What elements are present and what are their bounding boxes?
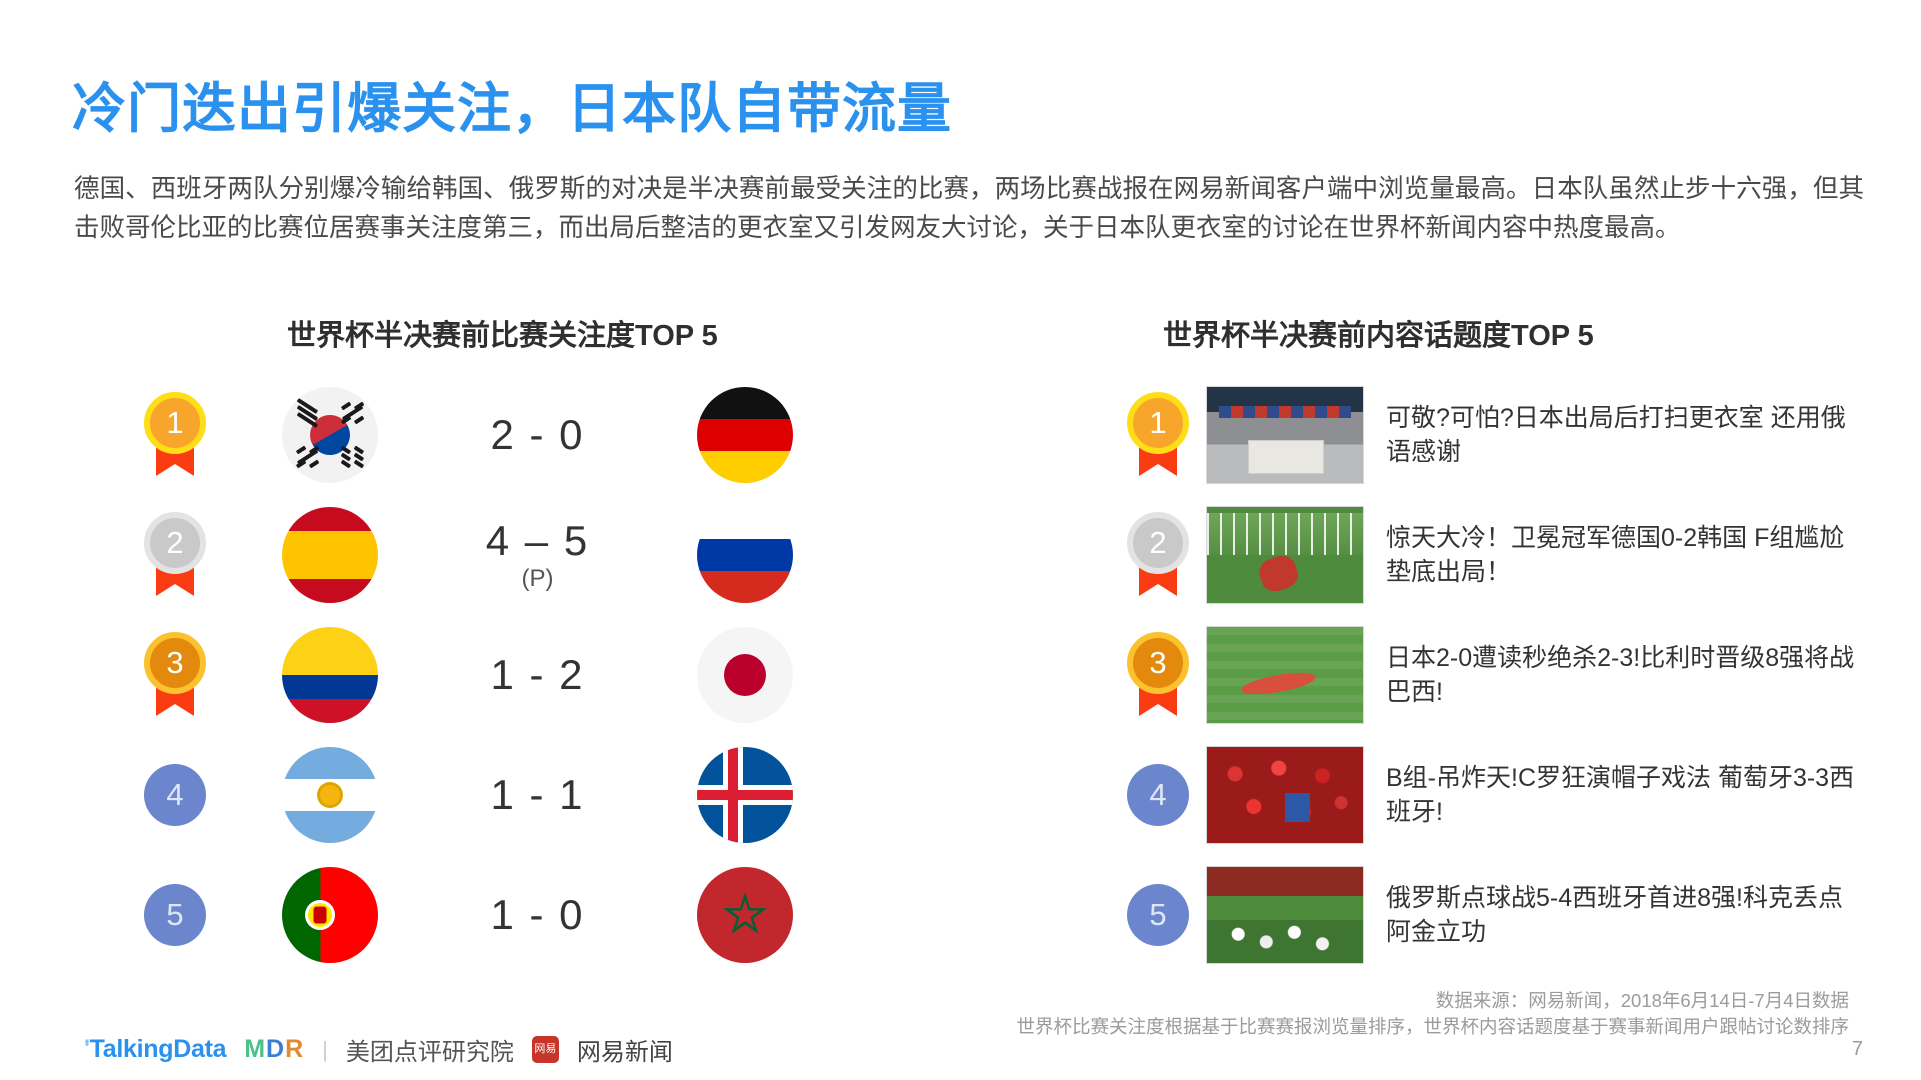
intro-paragraph: 德国、西班牙两队分别爆冷输给韩国、俄罗斯的对决是半决赛前最受关注的比赛，两场比赛… xyxy=(74,170,1864,248)
home-flag-cell xyxy=(230,627,430,723)
match-attention-list: 1 xyxy=(120,375,880,975)
match-row[interactable]: 5 1 - 0 xyxy=(120,855,880,975)
score-cell: 1 - 0 xyxy=(430,891,645,939)
news-row[interactable]: 5 俄罗斯点球战5-4西班牙首进8强!科克丢点阿金立功 xyxy=(1110,855,1870,975)
rank-cell: 2 xyxy=(1110,512,1206,598)
slide-page: 冷门迭出引爆关注，日本队自带流量 德国、西班牙两队分别爆冷输给韩国、俄罗斯的对决… xyxy=(0,0,1921,1080)
away-flag-cell xyxy=(645,387,845,483)
logo-divider: | xyxy=(322,1037,328,1063)
news-thumbnail[interactable] xyxy=(1206,506,1364,604)
score-cell: 2 - 0 xyxy=(430,411,645,459)
iceland-flag-icon xyxy=(697,747,793,843)
germany-flag-icon xyxy=(697,387,793,483)
rank-badge: 4 xyxy=(144,764,206,826)
rank-cell: 3 xyxy=(120,632,230,718)
rank-cell: 1 xyxy=(1110,392,1206,478)
home-flag-cell xyxy=(230,867,430,963)
medal-bronze-icon: 3 xyxy=(144,632,206,718)
score-value: 1 - 0 xyxy=(430,891,645,939)
left-section-heading: 世界杯半决赛前比赛关注度TOP 5 xyxy=(287,312,718,354)
netease-mark-icon: 网易 xyxy=(532,1036,559,1063)
rank-number: 2 xyxy=(1127,512,1189,574)
news-headline[interactable]: 俄罗斯点球战5-4西班牙首进8强!科克丢点阿金立功 xyxy=(1386,881,1856,949)
medal-gold-icon: 1 xyxy=(1127,392,1189,478)
medal-bronze-icon: 3 xyxy=(1127,632,1189,718)
rank-cell: 1 xyxy=(120,392,230,478)
page-title: 冷门迭出引爆关注，日本队自带流量 xyxy=(72,64,952,143)
rank-badge: 5 xyxy=(1127,884,1189,946)
news-thumbnail[interactable] xyxy=(1206,746,1364,844)
news-row[interactable]: 3 日本2-0遭读秒绝杀2-3!比利时晋级8强将战巴西! xyxy=(1110,615,1870,735)
away-flag-cell xyxy=(645,627,845,723)
news-thumbnail[interactable] xyxy=(1206,386,1364,484)
rank-badge: 4 xyxy=(1127,764,1189,826)
score-cell: 1 - 2 xyxy=(430,651,645,699)
argentina-flag-icon xyxy=(282,747,378,843)
news-headline[interactable]: 日本2-0遭读秒绝杀2-3!比利时晋级8强将战巴西! xyxy=(1386,641,1856,709)
netease-news-logo: 网易新闻 xyxy=(577,1032,673,1067)
south-korea-flag-icon xyxy=(282,387,378,483)
news-row[interactable]: 1 可敬?可怕?日本出局后打扫更衣室 还用俄语感谢 xyxy=(1110,375,1870,495)
japan-flag-icon xyxy=(697,627,793,723)
score-value: 1 - 2 xyxy=(430,651,645,699)
data-source-note: 数据来源：网易新闻，2018年6月14日-7月4日数据 xyxy=(1436,988,1849,1014)
medal-silver-icon: 2 xyxy=(144,512,206,598)
rank-cell: 4 xyxy=(1110,764,1206,826)
news-row[interactable]: 4 B组-吊炸天!C罗狂演帽子戏法 葡萄牙3-3西班牙! xyxy=(1110,735,1870,855)
news-thumbnail[interactable] xyxy=(1206,626,1364,724)
colombia-flag-icon xyxy=(282,627,378,723)
rank-number: 1 xyxy=(144,392,206,454)
home-flag-cell xyxy=(230,387,430,483)
home-flag-cell xyxy=(230,747,430,843)
rank-number: 3 xyxy=(1127,632,1189,694)
match-row[interactable]: 2 4 – 5 (P) xyxy=(120,495,880,615)
content-topic-list: 1 可敬?可怕?日本出局后打扫更衣室 还用俄语感谢 2 惊天大冷！卫冕冠军德国0… xyxy=(1110,375,1870,975)
rank-cell: 5 xyxy=(120,884,230,946)
away-flag-cell xyxy=(645,507,845,603)
match-row[interactable]: 4 1 - 1 xyxy=(120,735,880,855)
page-number: 7 xyxy=(1852,1038,1863,1061)
rank-cell: 5 xyxy=(1110,884,1206,946)
away-flag-cell xyxy=(645,747,845,843)
home-flag-cell xyxy=(230,507,430,603)
score-value: 2 - 0 xyxy=(430,411,645,459)
score-cell: 1 - 1 xyxy=(430,771,645,819)
spain-flag-icon xyxy=(282,507,378,603)
rank-cell: 2 xyxy=(120,512,230,598)
score-cell: 4 – 5 (P) xyxy=(430,517,645,593)
meituan-research-logo: 美团点评研究院 xyxy=(346,1032,514,1067)
rank-cell: 4 xyxy=(120,764,230,826)
score-value: 4 – 5 xyxy=(430,517,645,565)
medal-silver-icon: 2 xyxy=(1127,512,1189,598)
morocco-flag-icon xyxy=(697,867,793,963)
right-section-heading: 世界杯半决赛前内容话题度TOP 5 xyxy=(1163,312,1594,354)
methodology-note: 世界杯比赛关注度根据基于比赛赛报浏览量排序，世界杯内容话题度基于赛事新闻用户跟帖… xyxy=(1016,1014,1849,1040)
news-headline[interactable]: 可敬?可怕?日本出局后打扫更衣室 还用俄语感谢 xyxy=(1386,401,1856,469)
match-row[interactable]: 1 xyxy=(120,375,880,495)
medal-gold-icon: 1 xyxy=(144,392,206,478)
russia-flag-icon xyxy=(697,507,793,603)
rank-badge: 5 xyxy=(144,884,206,946)
news-thumbnail[interactable] xyxy=(1206,866,1364,964)
news-row[interactable]: 2 惊天大冷！卫冕冠军德国0-2韩国 F组尴尬垫底出局！ xyxy=(1110,495,1870,615)
rank-number: 3 xyxy=(144,632,206,694)
match-row[interactable]: 3 1 - 2 xyxy=(120,615,880,735)
news-headline[interactable]: B组-吊炸天!C罗狂演帽子戏法 葡萄牙3-3西班牙! xyxy=(1386,761,1856,829)
mdr-logo: MDR xyxy=(244,1035,304,1064)
news-headline[interactable]: 惊天大冷！卫冕冠军德国0-2韩国 F组尴尬垫底出局！ xyxy=(1386,521,1856,589)
rank-number: 2 xyxy=(144,512,206,574)
score-note: (P) xyxy=(430,565,645,593)
score-value: 1 - 1 xyxy=(430,771,645,819)
away-flag-cell xyxy=(645,867,845,963)
talkingdata-logo: 'TalkingData xyxy=(84,1035,226,1064)
rank-number: 1 xyxy=(1127,392,1189,454)
rank-cell: 3 xyxy=(1110,632,1206,718)
footer-logos: 'TalkingData MDR | 美团点评研究院 网易 网易新闻 xyxy=(84,1032,673,1067)
portugal-flag-icon xyxy=(282,867,378,963)
